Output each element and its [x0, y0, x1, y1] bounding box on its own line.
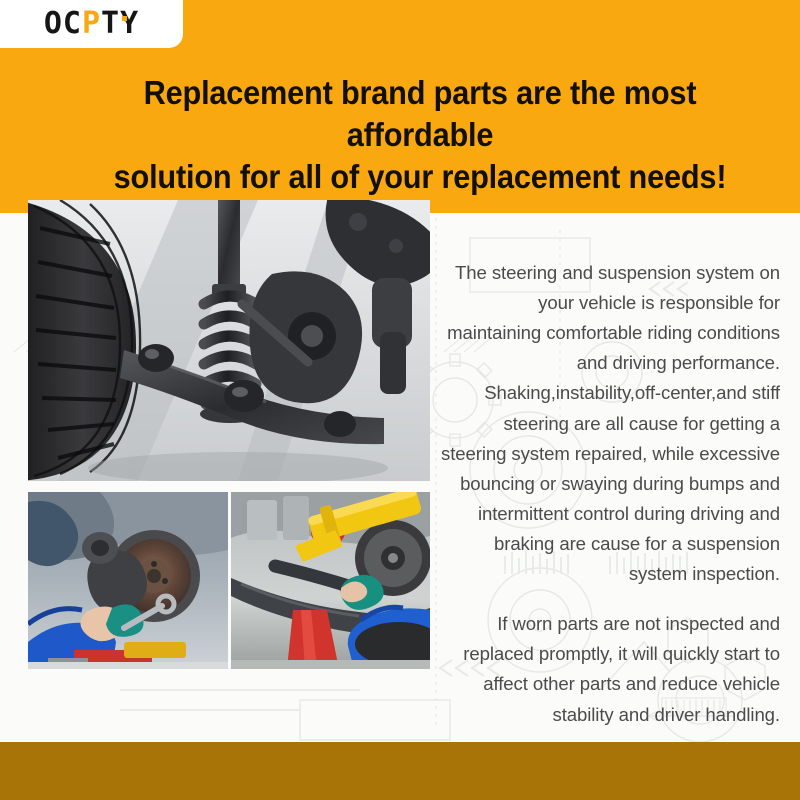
logo-accent-letter: P	[82, 9, 101, 39]
brand-logo-text: OCPTY	[44, 9, 139, 39]
body-paragraph-2: If worn parts are not inspected and repl…	[440, 609, 780, 729]
headline-line-1: Replacement brand parts are the most aff…	[144, 74, 697, 153]
headline-line-2: solution for all of your replacement nee…	[85, 156, 755, 198]
main-suspension-photo	[28, 200, 430, 481]
body-paragraph-1: The steering and suspension system on yo…	[440, 258, 780, 589]
logo-mid-letter: T	[101, 9, 120, 39]
logo-prefix: OC	[44, 9, 82, 39]
body-copy: The steering and suspension system on yo…	[440, 258, 780, 730]
promotional-poster: OCPTY Replacement brand parts are the mo…	[0, 0, 800, 800]
brake-service-photo	[28, 492, 228, 669]
page-headline: Replacement brand parts are the most aff…	[85, 72, 755, 198]
header-band: OCPTY Replacement brand parts are the mo…	[0, 0, 800, 213]
suspension-service-photo	[231, 492, 430, 669]
logo-accent-dot	[122, 16, 127, 21]
footer-bar	[0, 742, 800, 800]
brand-logo[interactable]: OCPTY	[0, 0, 183, 48]
logo-suffix-letter: Y	[120, 9, 139, 39]
